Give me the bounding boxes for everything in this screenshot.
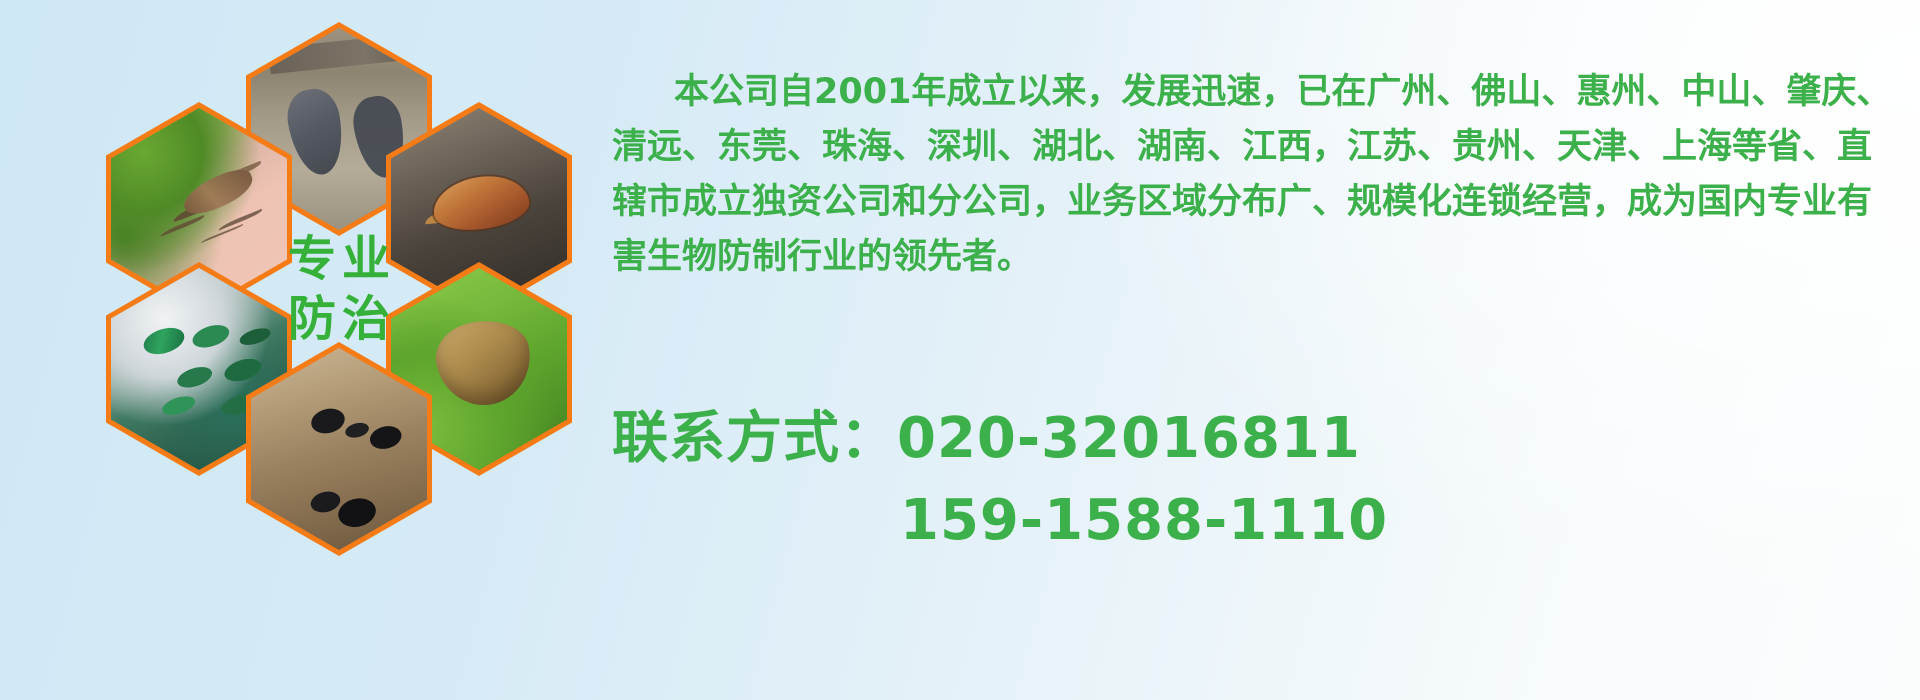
honeycomb-logo: 专业 防治 [88, 8, 588, 568]
contact-mobile-line[interactable]: 159-1588-1110 [612, 480, 1902, 562]
intro-paragraph: 本公司自2001年成立以来，发展迅速，已在广州、佛山、惠州、中山、肇庆、清远、东… [612, 65, 1902, 285]
contact-block: 联系方式：020-32016811 159-1588-1110 [612, 398, 1902, 562]
slogan-line-2: 防治 [282, 294, 396, 344]
contact-primary-line[interactable]: 联系方式：020-32016811 [612, 398, 1902, 480]
promo-banner: 专业 防治 本公司自2001年成立以来，发展迅速，已在广州、佛山、惠州、中山、肇… [0, 0, 1920, 700]
slogan-hex-center: 专业 防治 [246, 182, 432, 396]
slogan-line-1: 专业 [282, 234, 396, 284]
intro-copy-block: 本公司自2001年成立以来，发展迅速，已在广州、佛山、惠州、中山、肇庆、清远、东… [612, 30, 1902, 320]
